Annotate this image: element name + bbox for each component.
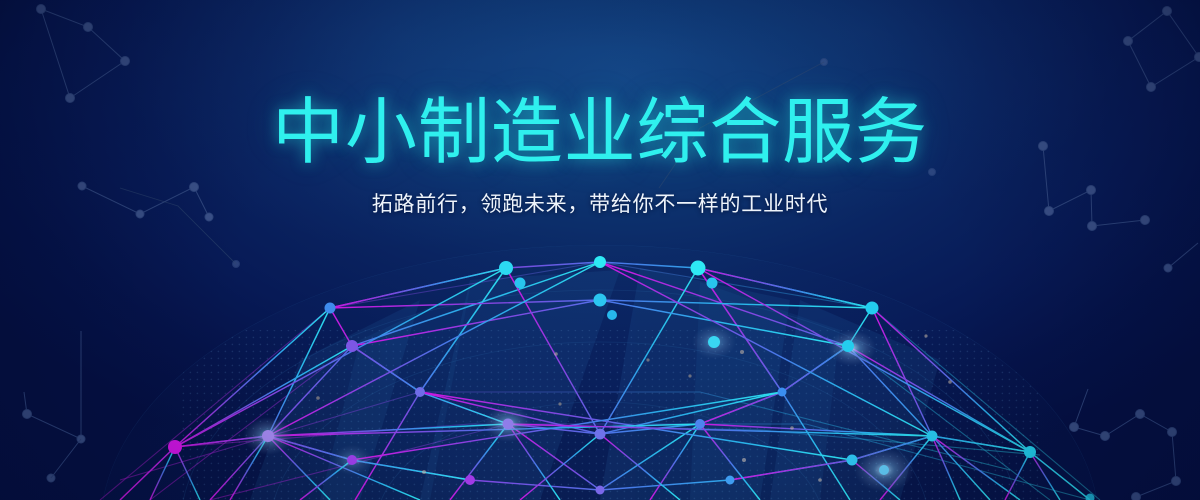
hero-banner: 中小制造业综合服务 拓路前行，领跑未来，带给你不一样的工业时代	[0, 0, 1200, 500]
network-dome-graphic	[0, 0, 1200, 500]
